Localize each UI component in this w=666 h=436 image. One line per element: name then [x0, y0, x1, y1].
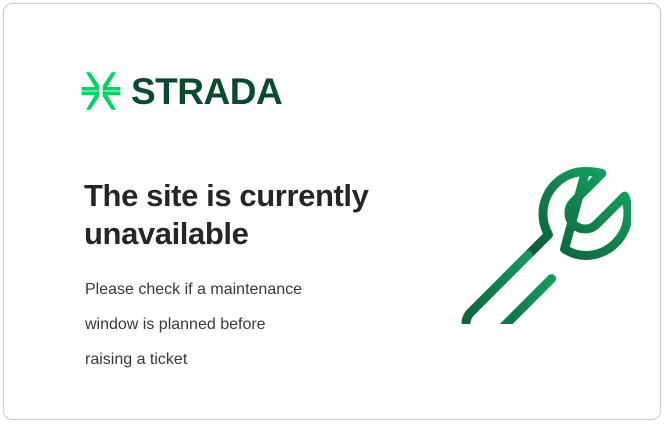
description-line: window is planned before: [85, 307, 405, 342]
page-title: The site is currently unavailable: [84, 177, 424, 253]
description-line: Please check if a maintenance: [85, 272, 405, 307]
maintenance-illustration: [456, 144, 631, 324]
status-card: STRADA The site is currently unavailable…: [3, 3, 661, 420]
wrench-icon: [456, 144, 631, 324]
description-line: raising a ticket: [85, 342, 405, 377]
error-page: STRADA The site is currently unavailable…: [0, 0, 666, 436]
asterisk-starburst-icon: [80, 70, 122, 112]
brand-mark: [80, 70, 122, 112]
page-description: Please check if a maintenance window is …: [85, 272, 405, 377]
brand-wordmark: STRADA: [131, 73, 282, 110]
brand-logo: STRADA: [80, 70, 282, 112]
